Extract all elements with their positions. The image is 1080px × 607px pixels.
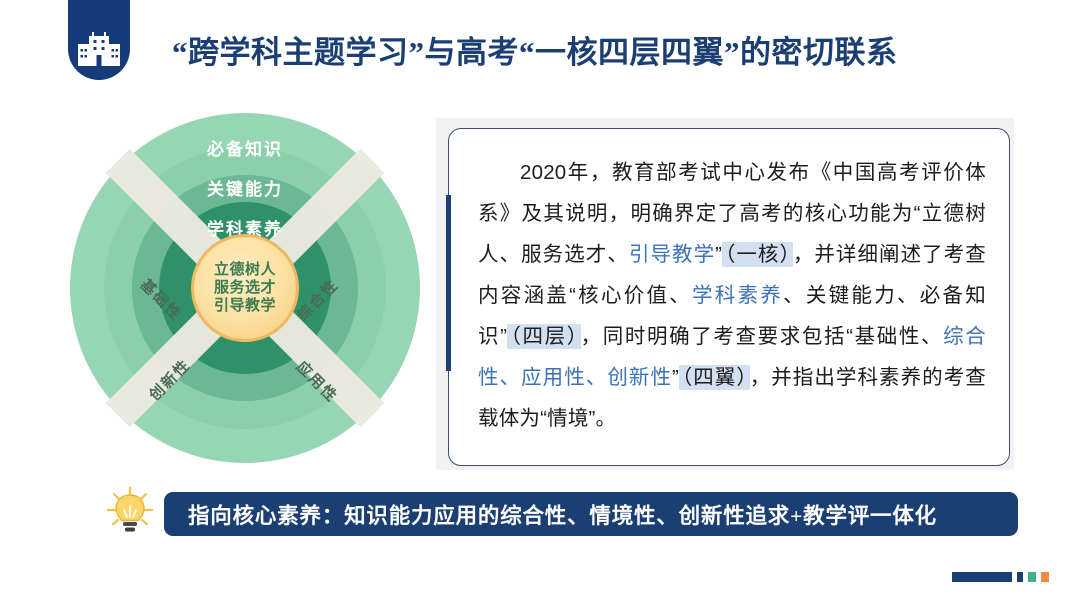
evaluation-system-diagram: 必备知识 关键能力 学科素养 核心价值 基础性 综合性 创新性 应用性 立德树人… bbox=[70, 113, 420, 463]
deco-square-orange bbox=[1041, 572, 1049, 582]
panel-highlight-four-layers: （四层） bbox=[507, 324, 580, 349]
deco-square-navy bbox=[1017, 572, 1023, 582]
ring-label-key-ability: 关键能力 bbox=[70, 175, 420, 200]
header-badge bbox=[68, 0, 130, 80]
page-title: “跨学科主题学习”与高考“一核四层四翼”的密切联系 bbox=[172, 27, 898, 72]
banner-text: 指向核心素养：知识能力应用的综合性、情境性、创新性追求+教学评一体化 bbox=[188, 499, 937, 530]
panel-seg-subject-literacy: 学科素养 bbox=[692, 284, 783, 307]
ring-label-essential-knowledge: 必备知识 bbox=[70, 135, 420, 160]
panel-paragraph: 2020年，教育部考试中心发布《中国高考评价体系》及其说明，明确界定了高考的核心… bbox=[478, 152, 986, 439]
lightbulb-icon bbox=[104, 486, 156, 538]
core-line-2: 服务选才 bbox=[214, 279, 276, 297]
footer-decoration bbox=[952, 572, 1049, 582]
deco-bar-navy-long bbox=[952, 572, 1012, 582]
page-header: “跨学科主题学习”与高考“一核四层四翼”的密切联系 bbox=[0, 0, 1080, 100]
diagram-core-circle: 立德树人 服务选才 引导教学 bbox=[191, 234, 299, 342]
core-line-1: 立德树人 bbox=[214, 261, 276, 279]
panel-highlight-one-core: （一核） bbox=[722, 242, 793, 267]
panel-left-accent-bar bbox=[446, 195, 451, 371]
core-line-3: 引导教学 bbox=[214, 297, 276, 315]
panel-seg-9: ，同时明确了考查要求包括“基础性、 bbox=[581, 325, 944, 348]
panel-seg-guide-teaching: 引导教学 bbox=[629, 243, 715, 266]
deco-square-green bbox=[1028, 572, 1036, 582]
school-building-icon bbox=[77, 32, 121, 66]
panel-highlight-four-wings: （四翼） bbox=[679, 365, 750, 390]
key-point-banner: 指向核心素养：知识能力应用的综合性、情境性、创新性追求+教学评一体化 bbox=[164, 492, 1018, 536]
